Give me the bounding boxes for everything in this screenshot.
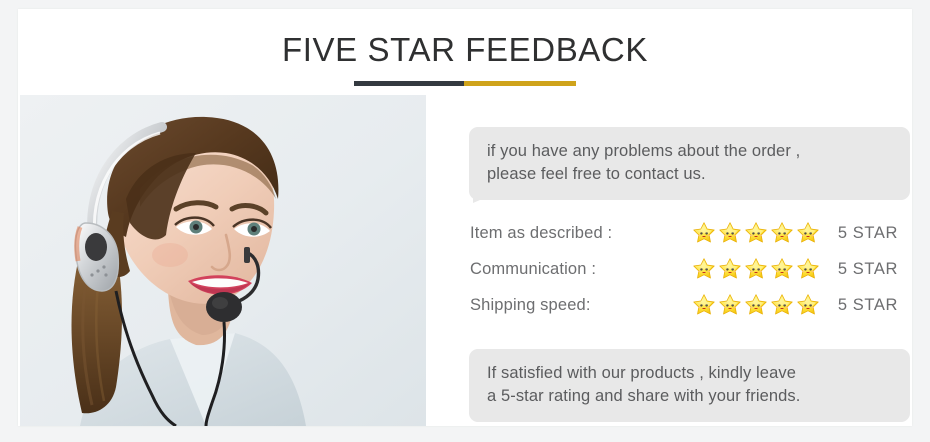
contact-us-bubble: if you have any problems about the order… bbox=[469, 127, 910, 200]
star-icon bbox=[744, 257, 768, 281]
rating-row: Communication : 5 STAR bbox=[470, 251, 912, 287]
rating-label: Shipping speed: bbox=[470, 296, 692, 315]
star-rating bbox=[692, 221, 824, 245]
star-icon bbox=[770, 221, 794, 245]
star-icon bbox=[692, 293, 716, 317]
star-icon bbox=[744, 293, 768, 317]
star-rating bbox=[692, 257, 824, 281]
rating-row: Item as described : 5 STAR bbox=[470, 215, 912, 251]
star-icon bbox=[718, 257, 742, 281]
rating-value: 5 STAR bbox=[824, 224, 912, 243]
header: FIVE STAR FEEDBACK bbox=[18, 9, 912, 95]
underline-gold-segment bbox=[464, 81, 576, 86]
star-icon bbox=[718, 293, 742, 317]
star-icon bbox=[770, 293, 794, 317]
star-icon bbox=[796, 293, 820, 317]
star-icon bbox=[718, 221, 742, 245]
leave-rating-bubble: If satisfied with our products , kindly … bbox=[469, 349, 910, 422]
star-icon bbox=[744, 221, 768, 245]
star-icon bbox=[692, 221, 716, 245]
contact-us-bubble-tail bbox=[473, 190, 503, 203]
star-rating bbox=[692, 293, 824, 317]
page-title: FIVE STAR FEEDBACK bbox=[18, 31, 912, 69]
star-icon bbox=[770, 257, 794, 281]
rating-value: 5 STAR bbox=[824, 260, 912, 279]
rating-row: Shipping speed: 5 STAR bbox=[470, 287, 912, 323]
star-icon bbox=[796, 257, 820, 281]
underline-dark-segment bbox=[354, 81, 464, 86]
title-underline bbox=[354, 81, 576, 86]
star-icon bbox=[692, 257, 716, 281]
feedback-banner: FIVE STAR FEEDBACK bbox=[0, 0, 930, 442]
rating-label: Communication : bbox=[470, 260, 692, 279]
ratings-list: Item as described : 5 STAR Communication… bbox=[470, 215, 912, 323]
rating-value: 5 STAR bbox=[824, 296, 912, 315]
support-agent-photo bbox=[20, 95, 426, 426]
feedback-card: FIVE STAR FEEDBACK bbox=[18, 9, 912, 426]
feedback-panel: if you have any problems about the order… bbox=[426, 95, 912, 426]
star-icon bbox=[796, 221, 820, 245]
rating-label: Item as described : bbox=[470, 224, 692, 243]
